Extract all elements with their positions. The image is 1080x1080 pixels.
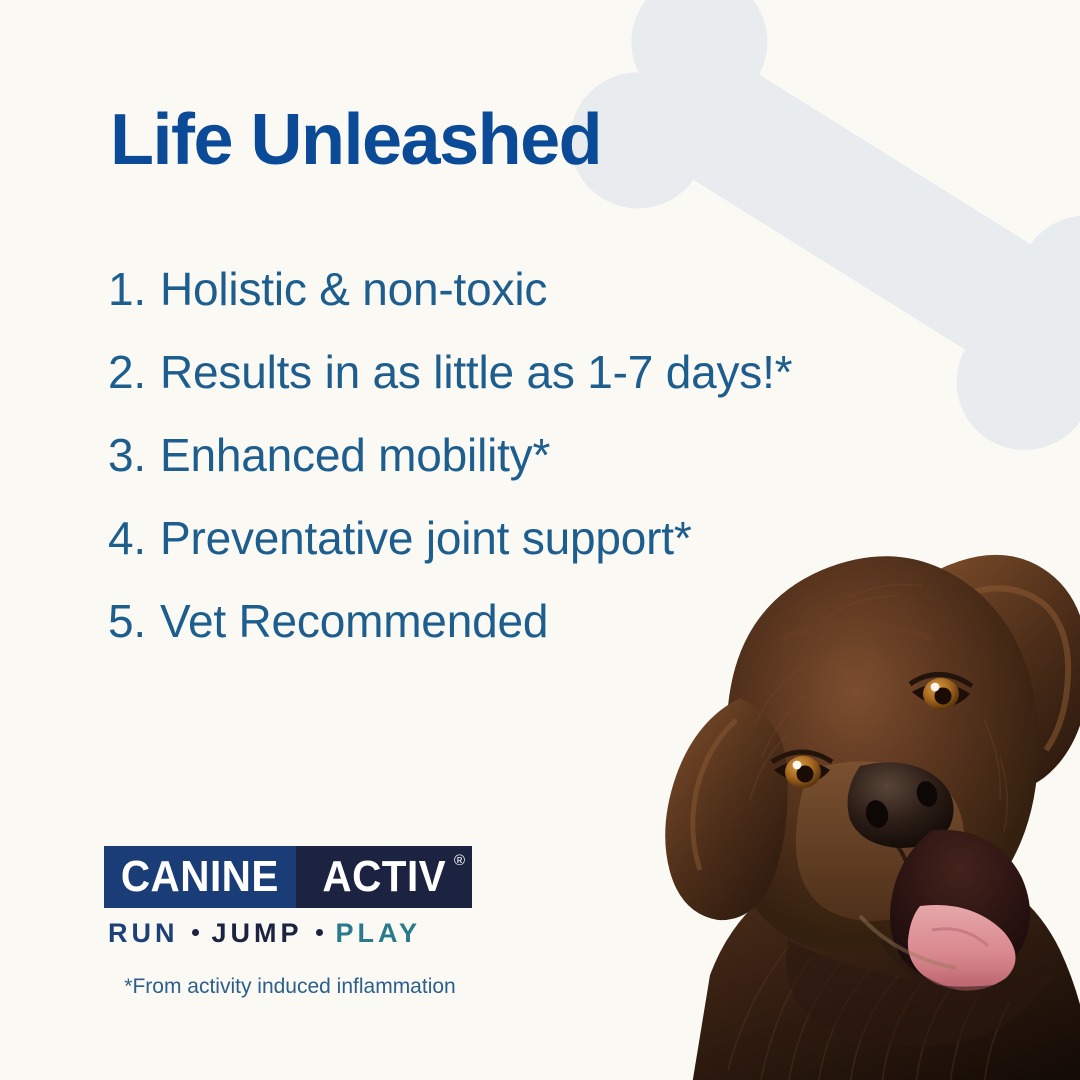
logo-word-activ: ACTIV	[322, 855, 446, 899]
list-item: 1. Holistic & non-toxic	[108, 262, 888, 345]
logo-tagline: RUN JUMP PLAY	[104, 918, 476, 949]
benefits-list: 1. Holistic & non-toxic 2. Results in as…	[108, 262, 888, 677]
brand-logo[interactable]: CANINE ACTIV ® RUN JUMP PLAY	[104, 846, 476, 949]
list-item: 4. Preventative joint support*	[108, 511, 888, 594]
nostril-left	[863, 798, 892, 831]
tagline-word-jump: JUMP	[212, 918, 303, 949]
dog-eye-left	[772, 752, 832, 788]
tagline-separator-dot-icon	[316, 929, 323, 936]
muzzle-highlight	[860, 916, 956, 968]
dog-nose	[848, 762, 954, 848]
dog-ear-right	[915, 555, 1080, 791]
dog-chest	[692, 853, 1080, 1080]
dog-tongue	[908, 905, 1016, 991]
list-item-number: 4.	[108, 511, 160, 565]
list-item-number: 2.	[108, 345, 160, 399]
dog-ear-left	[665, 698, 787, 920]
nose-philtrum	[892, 840, 908, 868]
ear-left-highlight	[693, 720, 736, 870]
dog-neck-shadow	[786, 940, 1052, 1046]
list-item-label: Results in as little as 1-7 days!*	[160, 345, 792, 399]
list-item-number: 5.	[108, 594, 160, 648]
list-item: 5. Vet Recommended	[108, 594, 888, 677]
dog-eye-right	[910, 674, 972, 710]
logo-canine-block: CANINE	[104, 846, 296, 908]
list-item-number: 1.	[108, 262, 160, 316]
nostril-right	[914, 779, 940, 810]
chest-fur-texture	[728, 942, 1010, 1080]
list-item: 3. Enhanced mobility*	[108, 428, 888, 511]
page-title: Life Unleashed	[110, 104, 601, 176]
logo-wordmark: CANINE ACTIV ®	[104, 846, 472, 908]
logo-word-canine: CANINE	[121, 855, 279, 899]
list-item-number: 3.	[108, 428, 160, 482]
poster-canvas: Life Unleashed 1. Holistic & non-toxic 2…	[0, 0, 1080, 1080]
dog-muzzle	[796, 761, 964, 921]
tongue-crease	[932, 929, 988, 946]
tagline-word-run: RUN	[108, 918, 179, 949]
dog-jawline	[882, 940, 1052, 999]
ear-right-highlight	[952, 588, 1068, 750]
list-item-label: Enhanced mobility*	[160, 428, 550, 482]
dog-mouth	[890, 830, 1030, 985]
list-item: 2. Results in as little as 1-7 days!*	[108, 345, 888, 428]
logo-activ-block: ACTIV ®	[296, 846, 472, 908]
list-item-label: Holistic & non-toxic	[160, 262, 547, 316]
list-item-label: Vet Recommended	[160, 594, 548, 648]
tagline-separator-dot-icon	[192, 929, 199, 936]
tagline-word-play: PLAY	[336, 918, 422, 949]
list-item-label: Preventative joint support*	[160, 511, 692, 565]
registered-trademark-icon: ®	[454, 853, 465, 868]
footnote-disclaimer: *From activity induced inflammation	[104, 975, 476, 999]
